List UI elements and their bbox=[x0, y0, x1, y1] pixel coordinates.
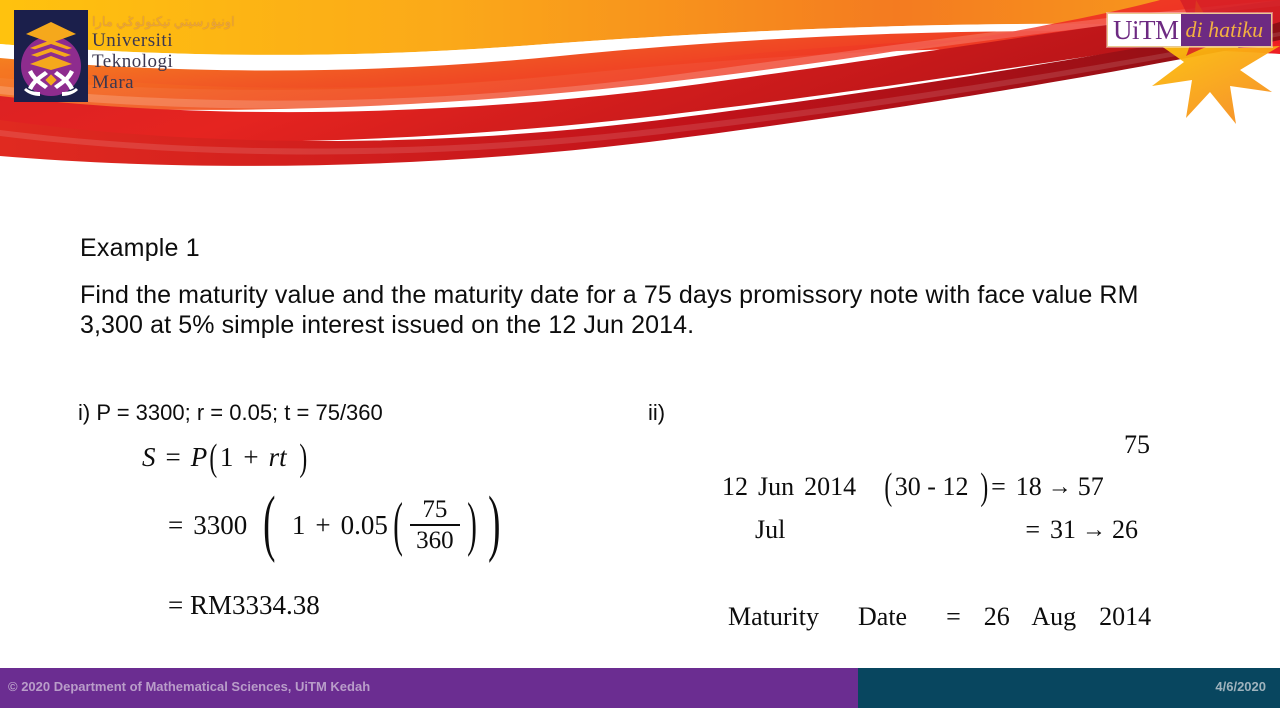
subst-open-inner-paren: ( bbox=[393, 504, 403, 544]
slide: اونيۏرسيتي تيكنولوݢي مارا Universiti Tek… bbox=[0, 0, 1280, 720]
july-month: Jul bbox=[755, 515, 785, 545]
june-calc: 30 - 12 bbox=[895, 472, 969, 502]
june-remaining: 57 bbox=[1078, 472, 1104, 502]
maturity-label-1: Maturity bbox=[728, 602, 819, 631]
subst-close-inner-paren: ) bbox=[467, 504, 477, 544]
date-row-june: 12 Jun 2014 ( 30 - 12 ) = 18 → 57 bbox=[722, 472, 1104, 502]
june-month: Jun bbox=[758, 472, 794, 502]
july-remaining: 26 bbox=[1112, 515, 1138, 545]
july-arrow-icon: → bbox=[1076, 517, 1112, 544]
footer-date-text: 4/6/2020 bbox=[1215, 679, 1266, 694]
university-name-line1: Universiti bbox=[92, 30, 322, 51]
part-ii-label: ii) bbox=[648, 400, 665, 426]
badge-tagline-text: di hatiku bbox=[1181, 14, 1272, 46]
subst-equals: = bbox=[168, 510, 183, 541]
uitm-di-hatiku-badge: UiTM di hatiku bbox=[1107, 13, 1272, 47]
part-i-given-values: i) P = 3300; r = 0.05; t = 75/360 bbox=[78, 400, 383, 426]
badge-uitm-text: UiTM bbox=[1108, 14, 1181, 46]
june-days: 18 bbox=[1016, 472, 1042, 502]
june-arrow-icon: → bbox=[1042, 474, 1078, 501]
formula-one: 1 bbox=[220, 442, 234, 473]
maturity-day: 26 bbox=[984, 602, 1010, 631]
subst-principal: 3300 bbox=[193, 510, 247, 541]
university-wordmark: اونيۏرسيتي تيكنولوݢي مارا Universiti Tek… bbox=[92, 14, 322, 102]
formula-principal-p: P bbox=[191, 442, 208, 473]
subst-open-outer-paren: ( bbox=[263, 500, 275, 546]
subst-plus: + bbox=[315, 510, 330, 541]
fraction-numerator: 75 bbox=[418, 497, 451, 524]
formula-lhs-s: S bbox=[142, 442, 156, 473]
subst-one: 1 bbox=[292, 510, 306, 541]
july-days: 31 bbox=[1050, 515, 1076, 545]
maturity-value-result: = RM3334.38 bbox=[168, 590, 320, 621]
june-equals: = bbox=[991, 472, 1006, 502]
formula-close-paren: ) bbox=[299, 444, 307, 472]
maturity-month: Aug bbox=[1031, 602, 1076, 631]
subst-close-outer-paren: ) bbox=[488, 500, 500, 546]
subst-rate: 0.05 bbox=[341, 510, 388, 541]
date-row-july: Jul = 31 → 26 bbox=[755, 515, 1138, 545]
maturity-equals: = bbox=[946, 602, 961, 631]
university-name-line2: Teknologi bbox=[92, 51, 322, 72]
formula-maturity-value: S = P ( 1 + rt ) bbox=[142, 442, 309, 473]
slide-footer: © 2020 Department of Mathematical Scienc… bbox=[0, 668, 1280, 708]
total-days-75: 75 bbox=[1124, 430, 1150, 460]
crest-svg bbox=[14, 10, 88, 102]
june-day: 12 bbox=[722, 472, 748, 502]
uitm-crest-logo bbox=[14, 10, 88, 102]
maturity-year: 2014 bbox=[1099, 602, 1151, 631]
example-label: Example 1 bbox=[80, 234, 200, 263]
june-close-paren: ) bbox=[981, 473, 989, 501]
maturity-date-row: Maturity Date = 26 Aug 2014 bbox=[728, 602, 1151, 632]
fraction-denominator: 360 bbox=[412, 526, 458, 553]
june-year: 2014 bbox=[804, 472, 856, 502]
footer-copyright-text: © 2020 Department of Mathematical Scienc… bbox=[8, 679, 370, 694]
formula-substitution: = 3300 ( 1 + 0.05 ( 75 360 ) ) bbox=[168, 497, 507, 553]
formula-rt: rt bbox=[269, 442, 287, 473]
june-open-paren: ( bbox=[885, 473, 893, 501]
jawi-script-text: اونيۏرسيتي تيكنولوݢي مارا bbox=[92, 14, 322, 30]
formula-plus: + bbox=[243, 442, 258, 473]
question-text: Find the maturity value and the maturity… bbox=[80, 280, 1170, 340]
formula-equals: = bbox=[166, 442, 181, 473]
formula-open-paren: ( bbox=[210, 444, 218, 472]
july-equals: = bbox=[1025, 515, 1040, 545]
university-name-line3: Mara bbox=[92, 72, 322, 93]
maturity-label-2: Date bbox=[858, 602, 907, 631]
time-fraction: 75 360 bbox=[410, 497, 460, 553]
